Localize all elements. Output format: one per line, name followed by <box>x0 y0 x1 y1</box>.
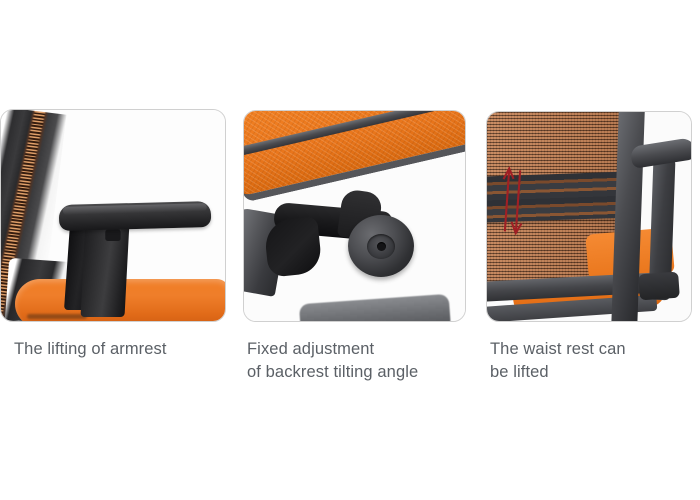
feature-photo-frame-backrest-tilt <box>243 110 466 322</box>
armrest-pad <box>59 201 212 231</box>
tilt-knob-center-hole <box>377 242 386 251</box>
armrest-mount <box>638 272 680 301</box>
feature-photo-frame-waist-rest <box>486 111 692 322</box>
feature-caption-backrest-tilt: Fixed adjustment of backrest tilting ang… <box>247 338 467 384</box>
armrest-height-button <box>105 228 121 241</box>
armrest-pad-highlight <box>63 203 207 215</box>
product-photo-waist-rest <box>487 112 691 321</box>
product-photo-armrest-lift <box>1 110 225 321</box>
feature-caption-armrest-lift: The lifting of armrest <box>14 338 227 361</box>
feature-item-armrest-lift: The lifting of armrest <box>0 0 233 500</box>
feature-caption-waist-rest: The waist rest can be lifted <box>490 338 687 384</box>
feature-panels-row: The lifting of armrest Fixed adjustmen <box>0 0 700 500</box>
feature-photo-frame-armrest-lift <box>0 109 226 322</box>
feature-item-backrest-tilt-adjustment: Fixed adjustment of backrest tilting ang… <box>243 0 473 500</box>
seat-shadow <box>27 314 87 319</box>
product-photo-backrest-tilt <box>244 111 465 321</box>
up-down-arrow-icon <box>498 163 531 239</box>
feature-item-waist-rest-lift: The waist rest can be lifted <box>486 0 693 500</box>
